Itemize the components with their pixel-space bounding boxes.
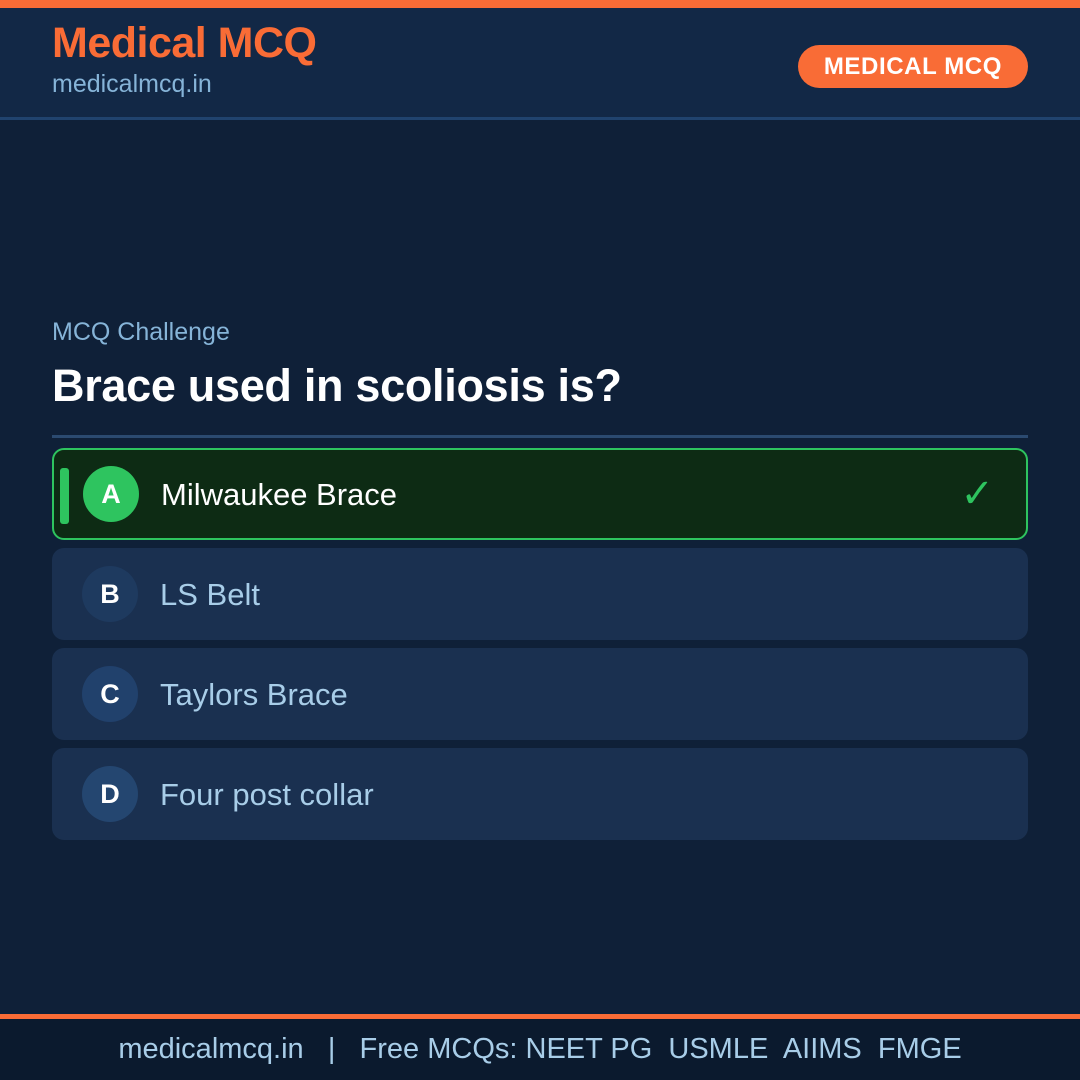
brand-title: Medical MCQ <box>52 22 317 65</box>
brand-subtitle: medicalmcq.in <box>52 72 317 97</box>
option-label-c: Taylors Brace <box>160 679 348 710</box>
check-icon: ✓ <box>960 474 994 514</box>
option-letter-badge-a: A <box>83 466 139 522</box>
question-title: Brace used in scoliosis is? <box>52 362 1028 411</box>
question-eyebrow: MCQ Challenge <box>52 320 1028 345</box>
page-header: Medical MCQ medicalmcq.in MEDICAL MCQ <box>0 8 1080 120</box>
option-letter-badge-d: D <box>82 766 138 822</box>
header-badge: MEDICAL MCQ <box>798 45 1028 88</box>
question-block: MCQ Challenge Brace used in scoliosis is… <box>52 320 1028 438</box>
question-divider <box>52 435 1028 438</box>
correct-accent-bar <box>60 468 69 524</box>
option-label-a: Milwaukee Brace <box>161 479 397 510</box>
option-letter-badge-c: C <box>82 666 138 722</box>
page-footer: medicalmcq.in | Free MCQs: NEET PG USMLE… <box>0 1014 1080 1080</box>
top-accent-rule <box>0 0 1080 8</box>
brand-block: Medical MCQ medicalmcq.in <box>52 22 317 97</box>
option-row-d[interactable]: D Four post collar <box>52 748 1028 840</box>
option-letter-badge-b: B <box>82 566 138 622</box>
footer-text: medicalmcq.in | Free MCQs: NEET PG USMLE… <box>118 1035 961 1064</box>
option-label-d: Four post collar <box>160 779 374 810</box>
header-badge-label: MEDICAL MCQ <box>824 53 1002 81</box>
options-list: A Milwaukee Brace ✓ B LS Belt C Taylors … <box>52 448 1028 848</box>
option-row-a[interactable]: A Milwaukee Brace ✓ <box>52 448 1028 540</box>
option-row-b[interactable]: B LS Belt <box>52 548 1028 640</box>
option-label-b: LS Belt <box>160 579 260 610</box>
option-row-c[interactable]: C Taylors Brace <box>52 648 1028 740</box>
